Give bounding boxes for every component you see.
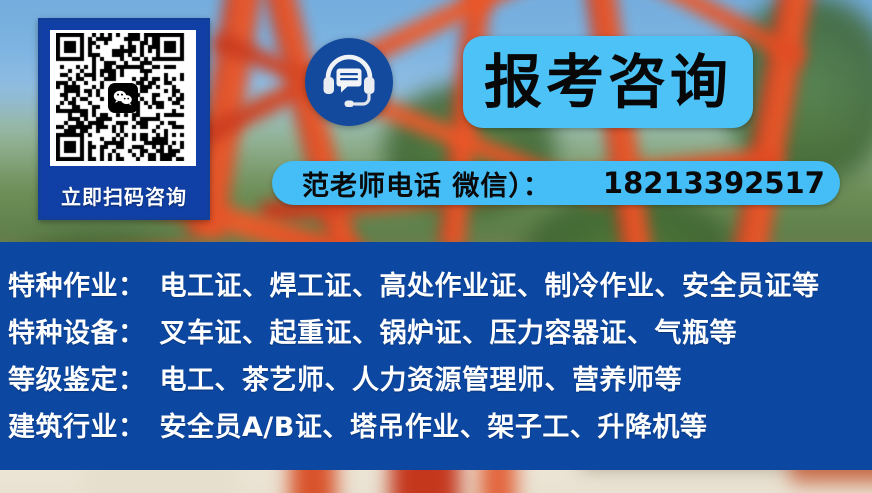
headset-support-icon [305, 38, 393, 126]
category-items: 叉车证、起重证、锅炉证、压力容器证、气瓶等 [160, 311, 738, 350]
contact-label: 范老师电话 微信）： [302, 164, 551, 203]
category-items: 电工证、焊工证、高处作业证、制冷作业、安全员证等 [160, 264, 820, 303]
qr-code-image[interactable] [50, 30, 196, 166]
category-items: 安全员A/B证、塔吊作业、架子工、升降机等 [160, 405, 708, 444]
category-row-special-equipment: 特种设备： 叉车证、起重证、锅炉证、压力容器证、气瓶等 [0, 307, 872, 354]
category-label: 等级鉴定： [8, 358, 146, 397]
contact-pill[interactable]: 范老师电话 微信）： 18213392517 [272, 161, 840, 205]
promo-poster: 立即扫码咨询 报考咨询 范老师电话 微信）： 18213392517 特种作业：… [0, 0, 872, 493]
category-row-grade-assessment: 等级鉴定： 电工、茶艺师、人力资源管理师、营养师等 [0, 354, 872, 401]
page-title: 报考咨询 [484, 53, 732, 111]
category-row-special-operations: 特种作业： 电工证、焊工证、高处作业证、制冷作业、安全员证等 [0, 260, 872, 307]
qr-code-card[interactable]: 立即扫码咨询 [38, 18, 210, 220]
qr-caption: 立即扫码咨询 [41, 181, 207, 210]
category-label: 特种作业： [8, 264, 146, 303]
wechat-icon [108, 83, 138, 113]
title-pill: 报考咨询 [463, 36, 753, 128]
contact-phone-number[interactable]: 18213392517 [603, 166, 825, 200]
category-label: 建筑行业： [8, 405, 146, 444]
category-items: 电工、茶艺师、人力资源管理师、营养师等 [160, 358, 683, 397]
category-row-construction-industry: 建筑行业： 安全员A/B证、塔吊作业、架子工、升降机等 [0, 401, 872, 448]
certificate-categories-panel: 特种作业： 电工证、焊工证、高处作业证、制冷作业、安全员证等 特种设备： 叉车证… [0, 242, 872, 470]
category-label: 特种设备： [8, 311, 146, 350]
